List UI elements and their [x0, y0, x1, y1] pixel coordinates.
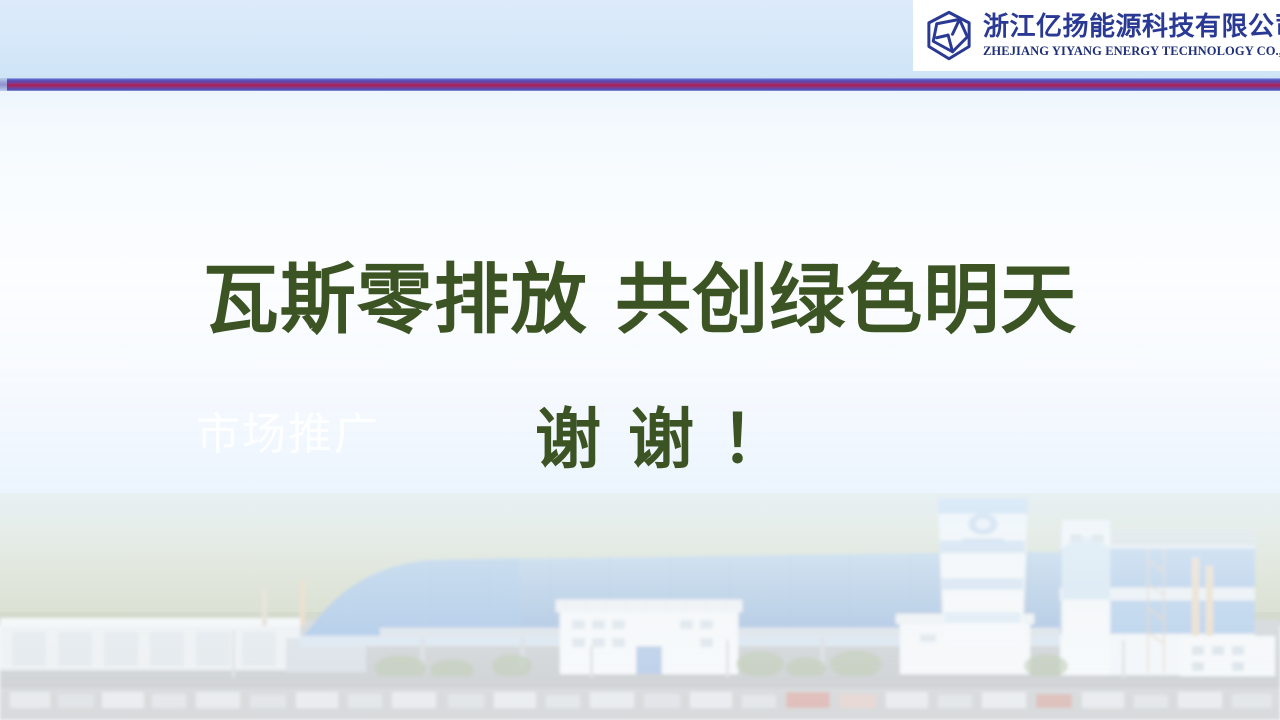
- hexagon-crystal-logo-icon: [921, 8, 977, 64]
- slide-headline: 瓦斯零排放 共创绿色明天: [0, 260, 1280, 340]
- slide-thanks-text: 谢 谢 ！: [0, 405, 1280, 474]
- company-logo-plate: 浙江亿扬能源科技有限公司 ZHEJIANG YIYANG ENERGY TECH…: [913, 0, 1280, 71]
- company-name-block: 浙江亿扬能源科技有限公司 ZHEJIANG YIYANG ENERGY TECH…: [983, 14, 1280, 58]
- presentation-slide: 浙江亿扬能源科技有限公司 ZHEJIANG YIYANG ENERGY TECH…: [0, 0, 1280, 720]
- header-divider-rule: [0, 78, 1280, 91]
- header-divider-rule-cap: [0, 78, 7, 91]
- company-name-chinese: 浙江亿扬能源科技有限公司: [983, 14, 1280, 40]
- photo-fade-overlay: [0, 0, 1280, 720]
- company-name-english: ZHEJIANG YIYANG ENERGY TECHNOLOGY CO., L…: [983, 45, 1280, 58]
